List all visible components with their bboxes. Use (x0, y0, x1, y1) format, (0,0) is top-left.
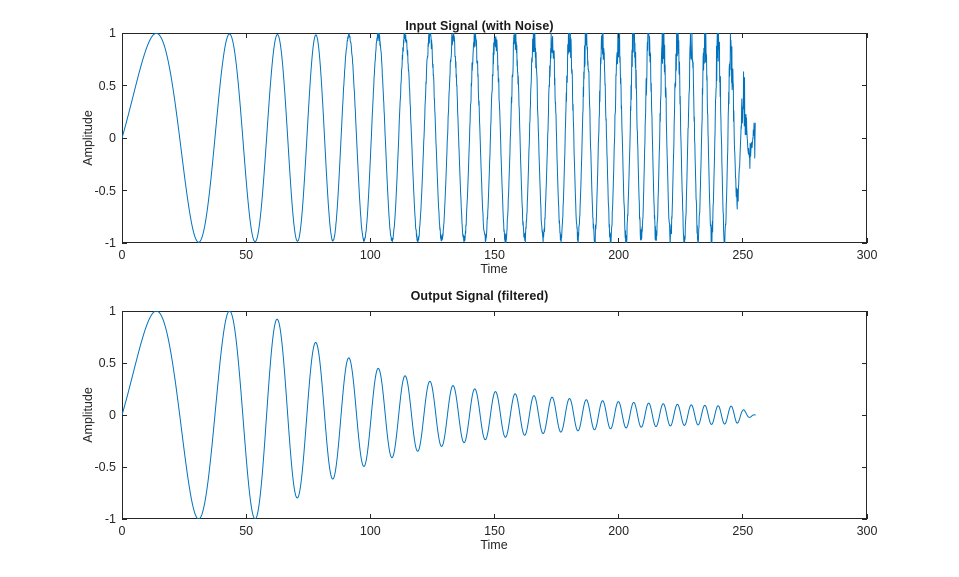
xtick-mark (122, 33, 123, 38)
xtick-mark (370, 238, 371, 243)
ytick-label: 0 (80, 131, 116, 145)
ytick-label: 0 (80, 408, 116, 422)
ytick-mark (122, 415, 127, 416)
xtick-label: 300 (857, 524, 878, 538)
xtick-label: 50 (239, 248, 253, 262)
xtick-mark (494, 311, 495, 316)
xtick-mark (494, 514, 495, 519)
xtick-label: 250 (732, 248, 753, 262)
xtick-mark (618, 311, 619, 316)
ytick-mark (862, 415, 867, 416)
xtick-mark (246, 238, 247, 243)
ytick-mark (122, 85, 127, 86)
xtick-label: 100 (360, 248, 381, 262)
xtick-mark (867, 33, 868, 38)
xtick-mark (618, 514, 619, 519)
xtick-label: 200 (608, 248, 629, 262)
ytick-mark (122, 33, 127, 34)
ytick-label: -0.5 (80, 460, 116, 474)
ytick-label: -1 (80, 236, 116, 250)
ytick-mark (862, 467, 867, 468)
ytick-mark (862, 363, 867, 364)
ytick-mark (862, 519, 867, 520)
xtick-mark (370, 514, 371, 519)
xtick-mark (122, 311, 123, 316)
ytick-mark (862, 243, 867, 244)
xtick-mark (867, 311, 868, 316)
ytick-mark (862, 190, 867, 191)
xtick-mark (246, 311, 247, 316)
signal-trace-output (0, 277, 959, 577)
ytick-mark (122, 243, 127, 244)
xtick-mark (370, 33, 371, 38)
xtick-mark (742, 311, 743, 316)
ytick-mark (122, 519, 127, 520)
ytick-mark (122, 363, 127, 364)
xtick-mark (246, 33, 247, 38)
xtick-mark (246, 514, 247, 519)
signal-trace-input (0, 0, 959, 285)
ytick-mark (122, 311, 127, 312)
xaxis-label-output: Time (480, 538, 507, 552)
signal-path (122, 311, 755, 519)
xtick-mark (742, 514, 743, 519)
xtick-label: 250 (732, 524, 753, 538)
ytick-label: 1 (80, 304, 116, 318)
xtick-label: 0 (119, 248, 126, 262)
xtick-label: 200 (608, 524, 629, 538)
ytick-label: 0.5 (80, 79, 116, 93)
ytick-mark (862, 138, 867, 139)
ytick-label: -0.5 (80, 184, 116, 198)
xtick-label: 100 (360, 524, 381, 538)
xtick-mark (494, 33, 495, 38)
xtick-mark (618, 238, 619, 243)
ytick-label: -1 (80, 512, 116, 526)
ytick-mark (122, 190, 127, 191)
subplot-input-signal: Input Signal (with Noise) Amplitude Time… (0, 0, 959, 285)
xtick-label: 150 (484, 524, 505, 538)
xtick-mark (494, 238, 495, 243)
ytick-mark (122, 138, 127, 139)
xtick-mark (742, 33, 743, 38)
xtick-label: 150 (484, 248, 505, 262)
xtick-label: 300 (857, 248, 878, 262)
matlab-figure: Input Signal (with Noise) Amplitude Time… (0, 0, 959, 577)
ytick-mark (862, 85, 867, 86)
ytick-mark (862, 311, 867, 312)
xtick-label: 0 (119, 524, 126, 538)
subplot-output-signal: Output Signal (filtered) Amplitude Time … (0, 277, 959, 577)
xaxis-label-input: Time (480, 262, 507, 276)
ytick-mark (862, 33, 867, 34)
xtick-label: 50 (239, 524, 253, 538)
ytick-mark (122, 467, 127, 468)
xtick-mark (618, 33, 619, 38)
xtick-mark (742, 238, 743, 243)
xtick-mark (370, 311, 371, 316)
ytick-label: 1 (80, 26, 116, 40)
signal-path (122, 33, 755, 243)
ytick-label: 0.5 (80, 356, 116, 370)
